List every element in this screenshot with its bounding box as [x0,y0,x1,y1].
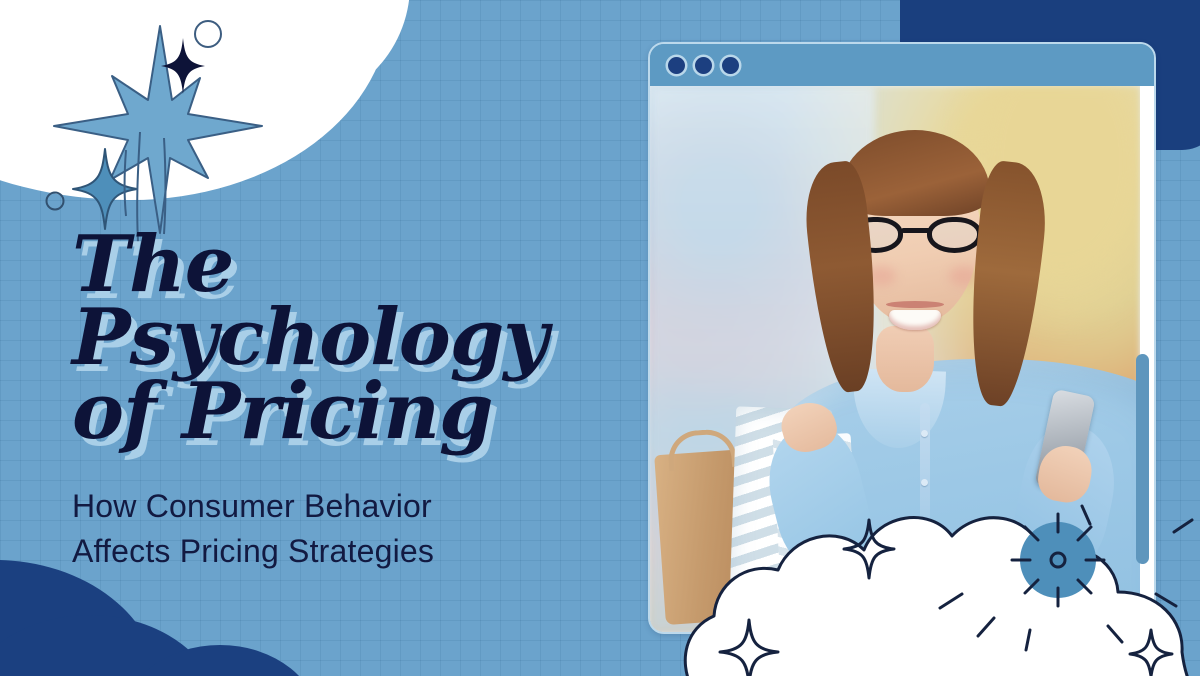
neck [876,326,934,392]
title-block: The Psychology of Pricing How Consumer B… [72,228,632,575]
sparkle-star-outline-1 [842,518,896,580]
title-line-3: of Pricing [72,375,632,448]
browser-title-bar [650,44,1154,86]
slide-canvas: The Psychology of Pricing How Consumer B… [0,0,1200,676]
upper-lip [886,301,944,308]
lens-right [927,217,982,253]
outline-circle-tiny [44,190,66,212]
subtitle-line-1: How Consumer Behavior [72,488,432,524]
sparkle-star-outline-3 [1128,628,1174,676]
sparkle-star-outline-2 [718,618,780,676]
title-line-2: Psychology [72,301,632,374]
window-dot-maximize-icon[interactable] [722,57,739,74]
page-subtitle: How Consumer Behavior Affects Pricing St… [72,484,632,575]
page-title: The Psychology of Pricing [72,228,632,448]
subtitle-line-2: Affects Pricing Strategies [72,533,434,569]
window-dot-minimize-icon[interactable] [695,57,712,74]
window-dot-close-icon[interactable] [668,57,685,74]
outline-circle-small [192,18,224,50]
